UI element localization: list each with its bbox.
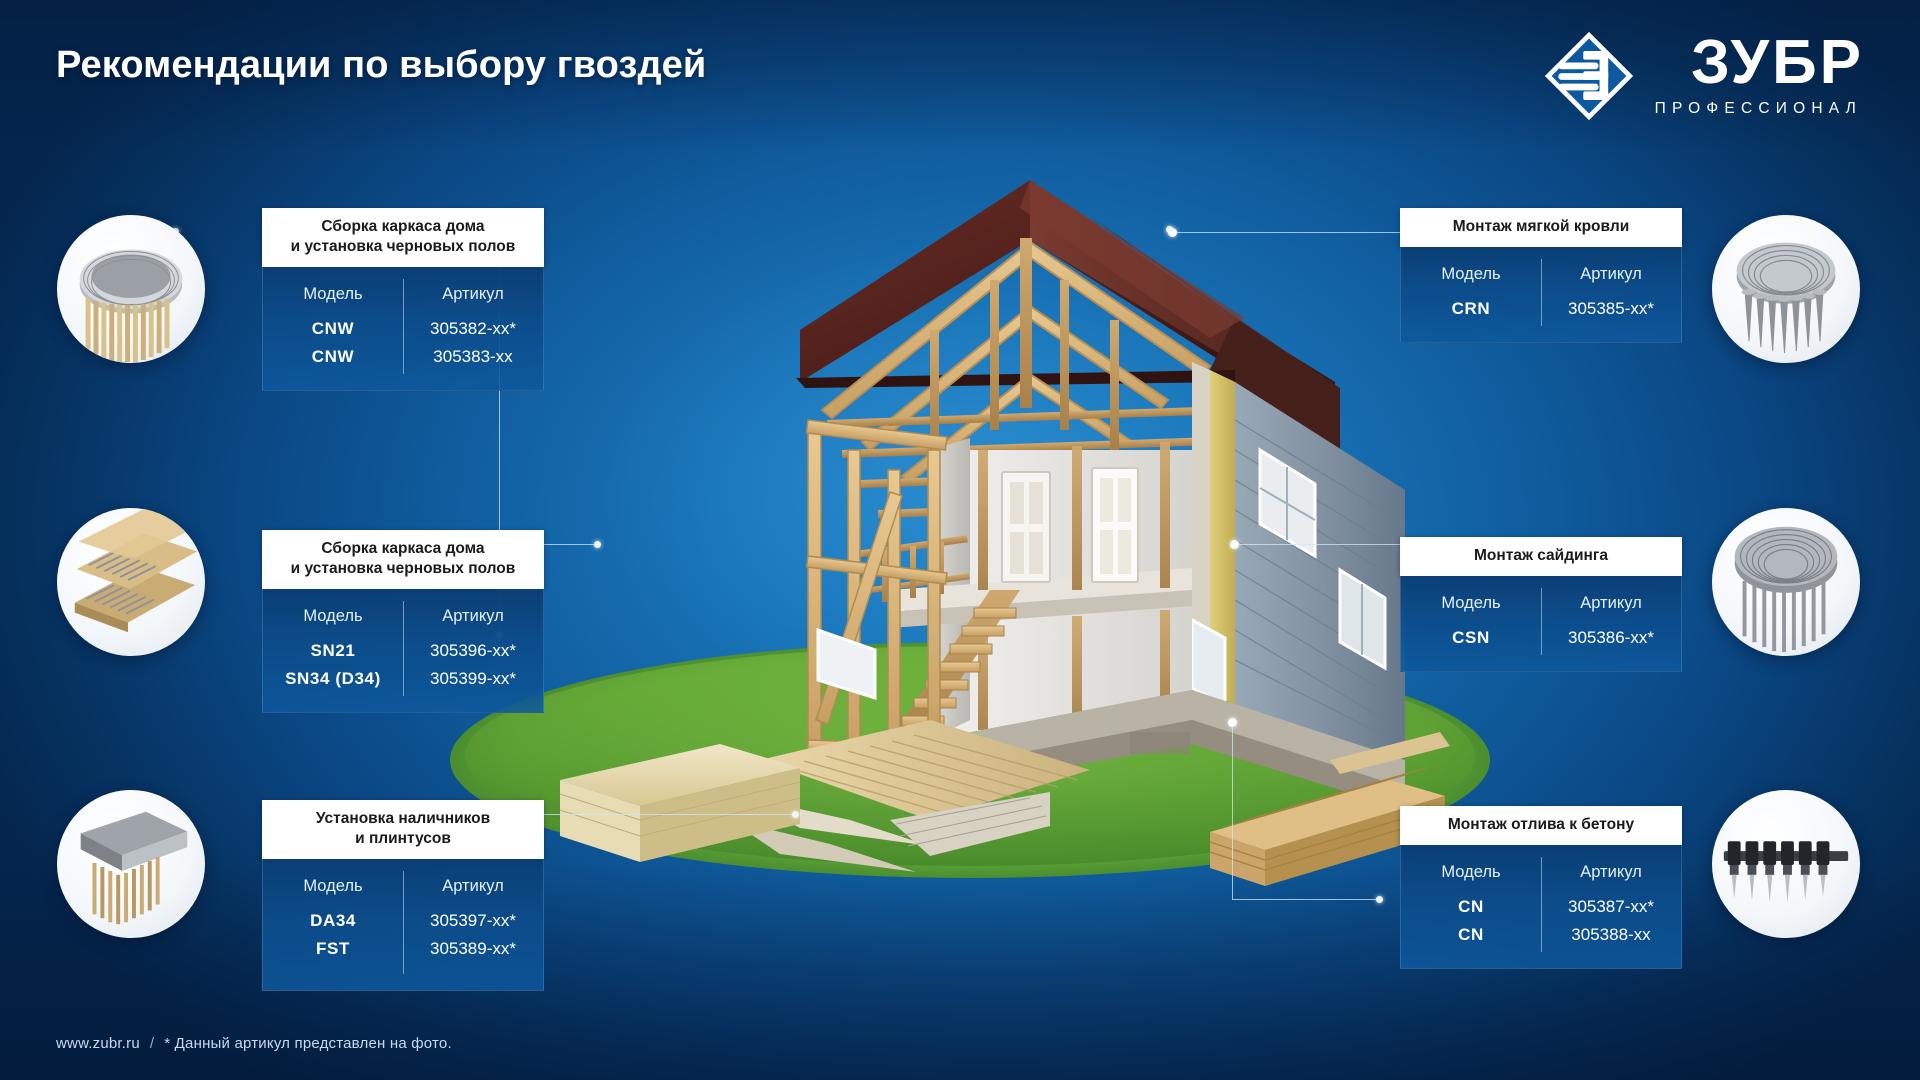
column-divider: [403, 871, 404, 974]
card-table: Модель Артикул CSN 305386-xx*: [1400, 576, 1682, 672]
card-table: Модель Артикул CNW 305382-xx* CNW 305383…: [262, 267, 544, 391]
cell-model: DA34: [263, 908, 403, 936]
card-title: Установка наличников и плинтусов: [262, 800, 544, 859]
col-header-article: Артикул: [1541, 261, 1681, 296]
logo-wordmark: ЗУБР: [1691, 34, 1864, 93]
col-header-article: Артикул: [1541, 590, 1681, 625]
footer: www.zubr.ru / * Данный артикул представл…: [56, 1035, 452, 1052]
cell-article: 305389-xx*: [403, 936, 543, 964]
cell-article: 305382-xx*: [403, 316, 543, 344]
thumb-finish-brad-nails: [57, 790, 205, 938]
card-title-line1: Монтаж отлива к бетону: [1410, 815, 1672, 835]
card-title-line1: Сборка каркаса дома: [272, 539, 534, 559]
cell-article: 305387-xx*: [1541, 894, 1681, 922]
col-header-model: Модель: [1401, 261, 1541, 296]
cell-article: 305385-xx*: [1541, 296, 1681, 324]
card-frame-assembly-sn: Сборка каркаса дома и установка черновых…: [262, 530, 544, 713]
card-title-line2: и плинтусов: [272, 829, 534, 849]
brand-logo: ЗУБР ПРОФЕССИОНАЛ: [1541, 28, 1864, 124]
cell-model: FST: [263, 936, 403, 964]
thumb-strip-nails: [57, 508, 205, 656]
cell-model: CNW: [263, 344, 403, 372]
card-title-line2: и установка черновых полов: [272, 237, 534, 257]
cell-model: CNW: [263, 316, 403, 344]
footer-separator: /: [150, 1035, 154, 1052]
col-header-model: Модель: [263, 281, 403, 316]
thumb-concrete-pin-nails: [1712, 790, 1860, 938]
cell-model: CN: [1401, 894, 1541, 922]
cell-article: 305397-xx*: [403, 908, 543, 936]
cell-article: 305386-xx*: [1541, 625, 1681, 653]
card-title: Монтаж сайдинга: [1400, 537, 1682, 576]
card-trim-baseboard-install: Установка наличников и плинтусов Модель …: [262, 800, 544, 991]
logo-tagline: ПРОФЕССИОНАЛ: [1655, 100, 1862, 118]
card-title-line1: Монтаж сайдинга: [1410, 546, 1672, 566]
col-header-model: Модель: [263, 603, 403, 638]
card-siding-install: Монтаж сайдинга Модель Артикул CSN 30538…: [1400, 537, 1682, 672]
cell-model: SN21: [263, 638, 403, 666]
page-title: Рекомендации по выбору гвоздей: [56, 44, 706, 87]
card-soft-roof-install: Монтаж мягкой кровли Модель Артикул CRN …: [1400, 208, 1682, 343]
card-title-line1: Установка наличников: [272, 809, 534, 829]
card-table: Модель Артикул CRN 305385-xx*: [1400, 247, 1682, 343]
col-header-article: Артикул: [403, 281, 543, 316]
cell-model: SN34 (D34): [263, 666, 403, 694]
card-title: Монтаж мягкой кровли: [1400, 208, 1682, 247]
card-title-line1: Монтаж мягкой кровли: [1410, 217, 1672, 237]
infographic-poster: Рекомендации по выбору гвоздей: [0, 0, 1920, 1080]
col-header-article: Артикул: [1541, 859, 1681, 894]
col-header-model: Модель: [1401, 590, 1541, 625]
zubr-diamond-icon: [1541, 28, 1637, 124]
col-header-model: Модель: [1401, 859, 1541, 894]
cell-article: 305396-xx*: [403, 638, 543, 666]
card-frame-assembly-cnw: Сборка каркаса дома и установка черновых…: [262, 208, 544, 391]
card-title: Сборка каркаса дома и установка черновых…: [262, 208, 544, 267]
cell-article: 305383-xx: [403, 344, 543, 372]
card-table: Модель Артикул DA34 305397-xx* FST 30538…: [262, 859, 544, 991]
cell-article: 305388-xx: [1541, 922, 1681, 950]
thumb-coil-nails-wire: [57, 215, 205, 363]
cell-article: 305399-xx*: [403, 666, 543, 694]
thumb-roofing-coil-nails: [1712, 215, 1860, 363]
col-header-article: Артикул: [403, 603, 543, 638]
thumb-siding-coil-nails: [1712, 508, 1860, 656]
card-table: Модель Артикул CN 305387-xx* CN 305388-x…: [1400, 845, 1682, 969]
cell-model: CRN: [1401, 296, 1541, 324]
column-divider: [403, 601, 404, 696]
column-divider: [1541, 857, 1542, 952]
card-title: Монтаж отлива к бетону: [1400, 806, 1682, 845]
column-divider: [1541, 588, 1542, 655]
col-header-article: Артикул: [403, 873, 543, 908]
footer-site[interactable]: www.zubr.ru: [56, 1035, 140, 1052]
card-title-line2: и установка черновых полов: [272, 559, 534, 579]
column-divider: [1541, 259, 1542, 326]
card-drip-edge-to-concrete: Монтаж отлива к бетону Модель Артикул CN…: [1400, 806, 1682, 969]
card-title: Сборка каркаса дома и установка черновых…: [262, 530, 544, 589]
footer-note: * Данный артикул представлен на фото.: [164, 1035, 452, 1052]
col-header-model: Модель: [263, 873, 403, 908]
card-title-line1: Сборка каркаса дома: [272, 217, 534, 237]
card-table: Модель Артикул SN21 305396-xx* SN34 (D34…: [262, 589, 544, 713]
cell-model: CSN: [1401, 625, 1541, 653]
cell-model: CN: [1401, 922, 1541, 950]
column-divider: [403, 279, 404, 374]
